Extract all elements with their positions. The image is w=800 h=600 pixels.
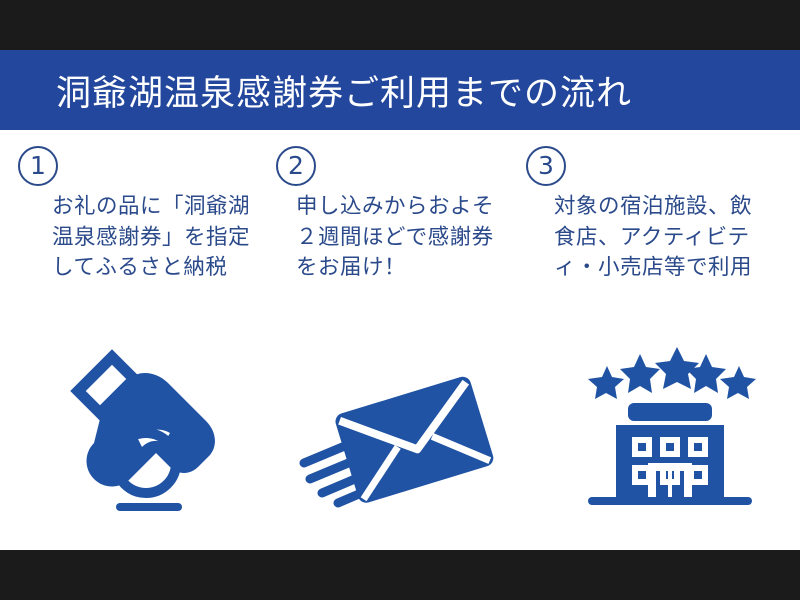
infographic-canvas: 洞爺湖温泉感謝券ご利用までの流れ 1 お礼の品に「洞爺湖温泉感謝券」を指定してふ… — [0, 50, 800, 550]
step-number-badge-3: 3 — [526, 146, 566, 186]
step-description-2: 申し込みからおよそ２週間ほどで感謝券をお届け！ — [296, 192, 511, 284]
steps-container: 1 お礼の品に「洞爺湖温泉感謝券」を指定してふるさと納税 — [0, 130, 800, 550]
hand-coin-donation-icon — [60, 347, 240, 512]
step-description-1: お礼の品に「洞爺湖温泉感謝券」を指定してふるさと納税 — [52, 192, 267, 284]
flying-envelope-icon — [290, 347, 505, 512]
letterbox-bar-bottom — [0, 550, 800, 600]
step-item-2: 2 申し込みからおよそ２週間ほどで感謝券をお届け！ — [268, 130, 523, 550]
letterbox-bar-top — [0, 0, 800, 50]
hotel-building-stars-icon — [580, 347, 760, 512]
step-item-1: 1 お礼の品に「洞爺湖温泉感謝券」を指定してふるさと納税 — [10, 130, 265, 550]
step-item-3: 3 対象の宿泊施設、飲食店、アクティビティ・小売店等で利用 — [518, 130, 773, 550]
step-description-3: 対象の宿泊施設、飲食店、アクティビティ・小売店等で利用 — [554, 192, 769, 284]
page-title: 洞爺湖温泉感謝券ご利用までの流れ — [0, 65, 632, 116]
infographic-frame: 洞爺湖温泉感謝券ご利用までの流れ 1 お礼の品に「洞爺湖温泉感謝券」を指定してふ… — [0, 0, 800, 600]
step-number-badge-2: 2 — [276, 146, 316, 186]
step-number-badge-1: 1 — [18, 146, 58, 186]
title-banner: 洞爺湖温泉感謝券ご利用までの流れ — [0, 50, 800, 130]
